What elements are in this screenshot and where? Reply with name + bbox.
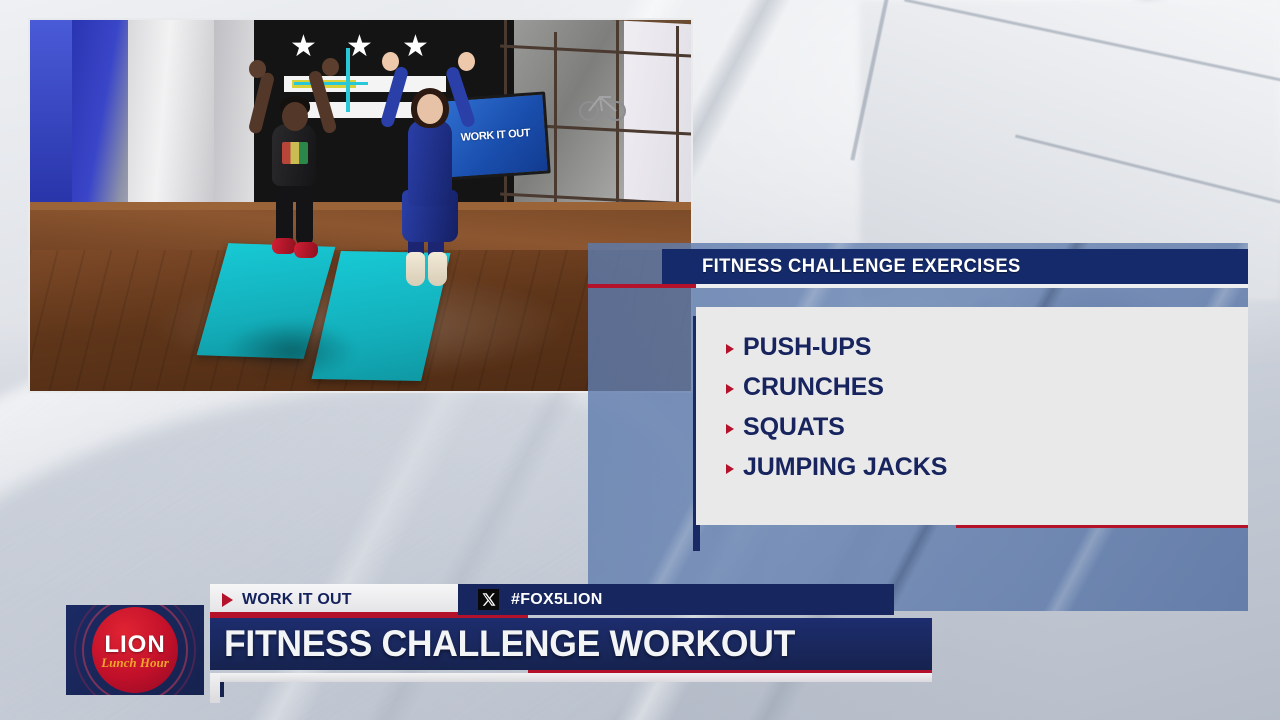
person-torso [408, 120, 452, 206]
sock [406, 252, 425, 286]
topic-chip: WORK IT OUT [210, 584, 458, 615]
person-hand [322, 58, 339, 76]
triangle-bullet-icon [222, 593, 233, 607]
headline-white-strip-left [210, 673, 220, 703]
sneaker [294, 242, 318, 258]
social-chip: #FOX5LION [458, 584, 894, 615]
sock [428, 252, 447, 286]
lower-third-banner: LION Lunch Hour WORK IT OUT #FOX5LION FI… [0, 584, 1280, 720]
triangle-bullet-icon [726, 464, 734, 474]
headline-text: FITNESS CHALLENGE WORKOUT [224, 623, 795, 665]
x-twitter-icon [478, 589, 499, 610]
triangle-bullet-icon [726, 424, 734, 434]
sneaker [272, 238, 296, 254]
list-item: SQUATS [726, 413, 1248, 442]
person-hand [458, 52, 475, 71]
logo-subtitle: Lunch Hour [66, 655, 204, 671]
header-white-accent [696, 284, 1248, 288]
panel-header-title: FITNESS CHALLENGE EXERCISES [702, 256, 1021, 278]
star-icon: ★ [402, 32, 429, 62]
exercise-label: JUMPING JACKS [743, 453, 947, 482]
exercise-list-box: PUSH-UPS CRUNCHES SQUATS JUMPING JACKS [696, 307, 1248, 525]
lion-lunch-hour-logo: LION Lunch Hour [66, 605, 204, 695]
star-icon: ★ [346, 32, 373, 62]
person-leg [276, 180, 293, 246]
list-item: CRUNCHES [726, 373, 1248, 402]
person-hand [249, 60, 266, 78]
bicycle-icon [578, 88, 628, 122]
person-shadow [226, 320, 356, 380]
list-item: PUSH-UPS [726, 333, 1248, 362]
headline-white-strip [210, 673, 932, 682]
header-red-accent [588, 284, 696, 288]
person-leg [296, 180, 313, 246]
bicycle-prop [578, 88, 628, 122]
exercise-label: PUSH-UPS [743, 333, 871, 362]
studio-stage-edge [30, 202, 693, 210]
headline-row: FITNESS CHALLENGE WORKOUT [210, 615, 932, 673]
tv-screen-text: WORK IT OUT [446, 127, 546, 145]
fitness-challenge-exercises-panel: FITNESS CHALLENGE EXERCISES PUSH-UPS CRU… [588, 243, 1248, 611]
person-hand [382, 52, 399, 71]
star-icon: ★ [290, 32, 317, 62]
exercise-label: SQUATS [743, 413, 845, 442]
headline-bar: FITNESS CHALLENGE WORKOUT [210, 618, 932, 670]
tshirt-graphic [282, 142, 308, 164]
triangle-bullet-icon [726, 384, 734, 394]
board-graphic-teal [346, 48, 350, 112]
person-head [417, 94, 443, 124]
topic-row: WORK IT OUT #FOX5LION [210, 584, 932, 615]
topic-label: WORK IT OUT [242, 591, 352, 609]
content-red-accent [956, 525, 1248, 528]
social-handle: #FOX5LION [511, 591, 603, 609]
person-head [282, 102, 308, 131]
exercise-list: PUSH-UPS CRUNCHES SQUATS JUMPING JACKS [726, 333, 1248, 482]
triangle-bullet-icon [726, 344, 734, 354]
panel-header-bar: FITNESS CHALLENGE EXERCISES [662, 249, 1248, 284]
exercise-label: CRUNCHES [743, 373, 884, 402]
board-graphic-teal [294, 82, 368, 85]
list-item: JUMPING JACKS [726, 453, 1248, 482]
